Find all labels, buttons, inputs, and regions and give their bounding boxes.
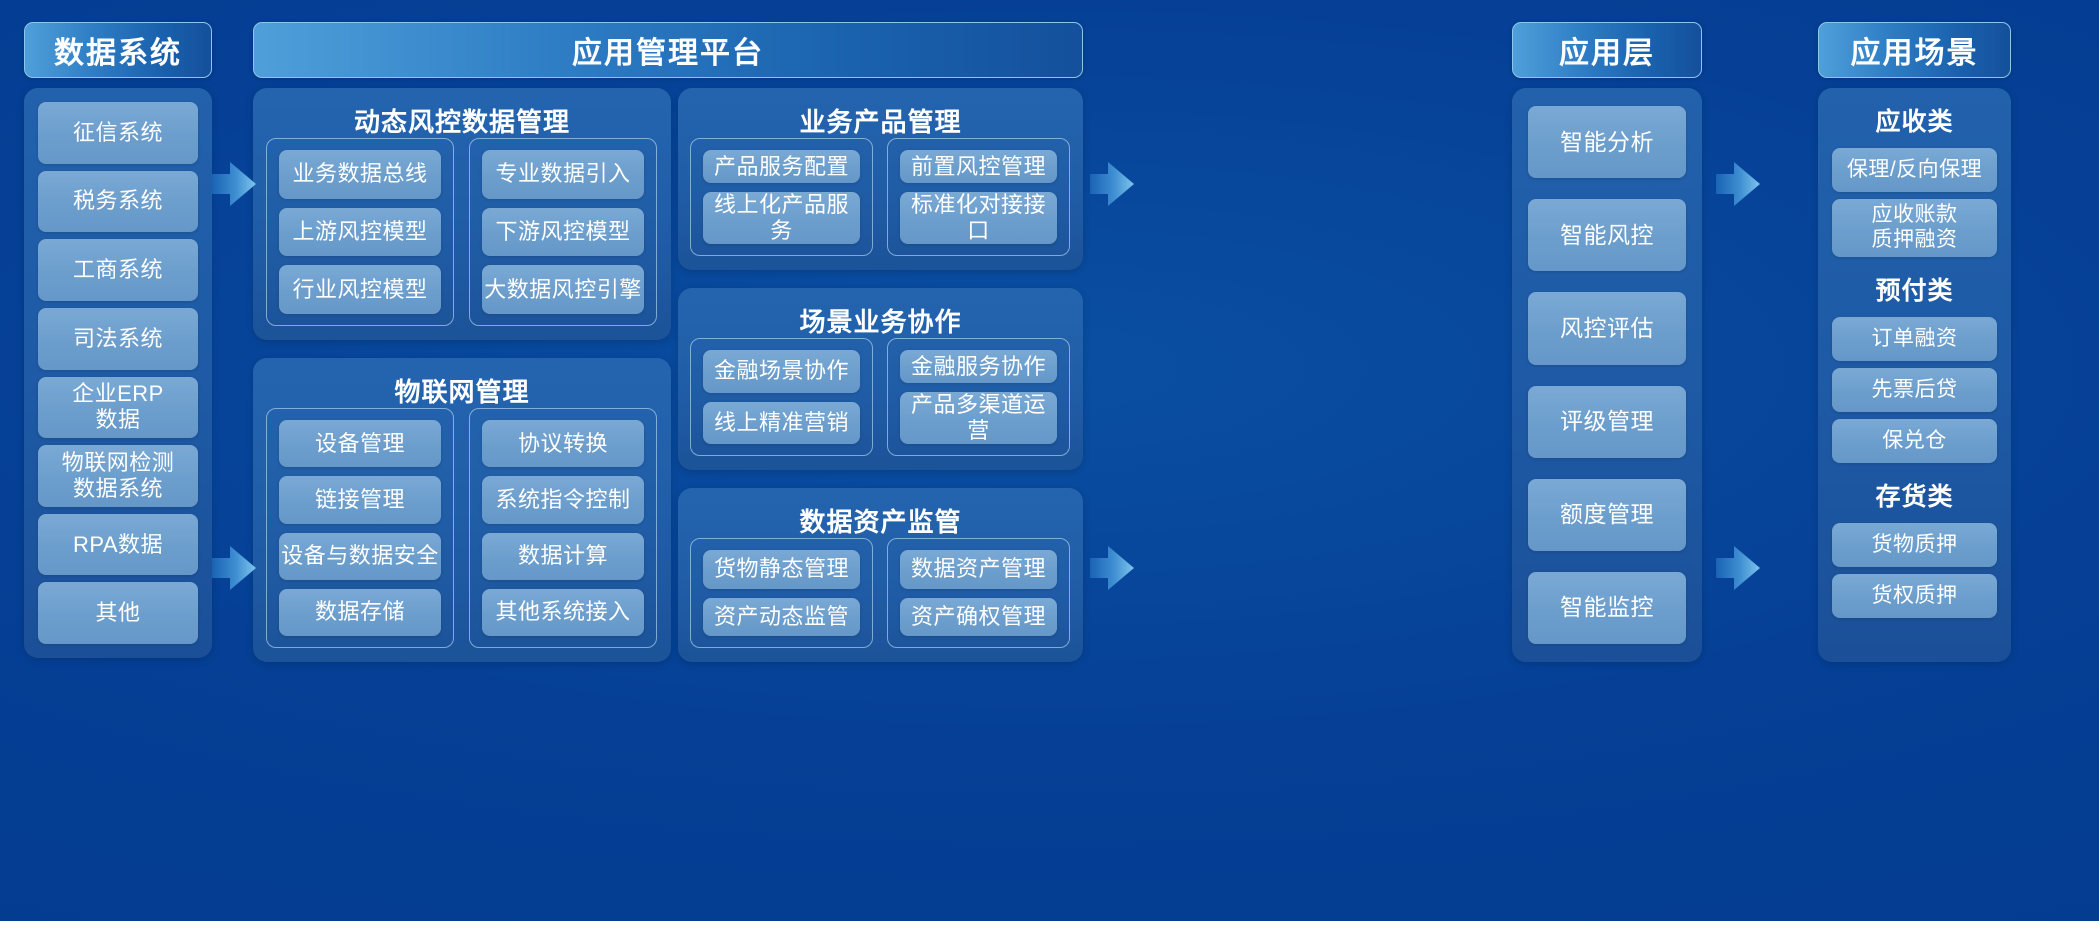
scenario-tile[interactable]: 保理/反向保理 bbox=[1832, 148, 1997, 192]
panel-data-systems: 征信系统税务系统工商系统司法系统企业ERP数据物联网检测数据系统RPA数据其他 bbox=[24, 88, 212, 658]
column-header-data-systems: 数据系统 bbox=[24, 22, 212, 78]
module-subgroup-right: 数据资产管理资产确权管理 bbox=[887, 538, 1070, 648]
application-layer-tile[interactable]: 智能监控 bbox=[1528, 572, 1686, 644]
application-layer-tile[interactable]: 评级管理 bbox=[1528, 386, 1686, 458]
arrow-platform-to-app-upper-icon bbox=[1090, 158, 1134, 210]
module-scenario-business-collaboration: 场景业务协作 金融场景协作线上精准营销 金融服务协作产品多渠道运营 bbox=[678, 288, 1083, 470]
scenario-group-title: 预付类 bbox=[1832, 269, 1997, 310]
module-subgroup-left: 设备管理链接管理设备与数据安全数据存储 bbox=[266, 408, 454, 648]
platform-feature-tile[interactable]: 资产动态监管 bbox=[703, 598, 860, 637]
platform-feature-tile[interactable]: 设备与数据安全 bbox=[279, 533, 441, 580]
platform-feature-tile[interactable]: 数据计算 bbox=[482, 533, 644, 580]
module-subgroup-left: 产品服务配置线上化产品服务 bbox=[690, 138, 873, 256]
platform-feature-tile[interactable]: 其他系统接入 bbox=[482, 589, 644, 636]
platform-feature-tile[interactable]: 链接管理 bbox=[279, 476, 441, 523]
arrow-data-to-risk-icon bbox=[212, 158, 256, 210]
module-title: 场景业务协作 bbox=[678, 302, 1083, 339]
data-system-tile[interactable]: RPA数据 bbox=[38, 514, 198, 576]
platform-feature-tile[interactable]: 数据存储 bbox=[279, 589, 441, 636]
diagram-root: 数据系统 征信系统税务系统工商系统司法系统企业ERP数据物联网检测数据系统RPA… bbox=[0, 0, 2099, 950]
platform-feature-tile[interactable]: 设备管理 bbox=[279, 420, 441, 467]
module-dynamic-risk-data-management: 动态风控数据管理 业务数据总线上游风控模型行业风控模型 专业数据引入下游风控模型… bbox=[253, 88, 671, 340]
scenario-group-title: 存货类 bbox=[1832, 475, 1997, 516]
scenario-tile[interactable]: 先票后贷 bbox=[1832, 368, 1997, 412]
platform-feature-tile[interactable]: 前置风控管理 bbox=[900, 150, 1057, 183]
module-subgroup-right: 协议转换系统指令控制数据计算其他系统接入 bbox=[469, 408, 657, 648]
column-header-application-scenarios: 应用场景 bbox=[1818, 22, 2011, 78]
scenario-tile[interactable]: 货权质押 bbox=[1832, 574, 1997, 618]
data-system-tile[interactable]: 企业ERP数据 bbox=[38, 377, 198, 439]
data-system-tile[interactable]: 其他 bbox=[38, 582, 198, 644]
scenario-group-title: 应收类 bbox=[1832, 100, 1997, 141]
column-application-layer: 应用层 智能分析智能风控风控评估评级管理额度管理智能监控 bbox=[1512, 0, 1702, 921]
data-system-tile[interactable]: 工商系统 bbox=[38, 239, 198, 301]
column-application-management-platform: 应用管理平台 动态风控数据管理 业务数据总线上游风控模型行业风控模型 专业数据引… bbox=[253, 0, 1083, 921]
column-application-scenarios: 应用场景 应收类保理/反向保理应收账款质押融资预付类订单融资先票后贷保兑仓存货类… bbox=[1818, 0, 2011, 921]
module-title: 物联网管理 bbox=[253, 372, 671, 409]
scenario-group: 存货类货物质押货权质押 bbox=[1832, 475, 1997, 618]
platform-feature-tile[interactable]: 线上精准营销 bbox=[703, 402, 860, 445]
module-subgroup-left: 货物静态管理资产动态监管 bbox=[690, 538, 873, 648]
scenario-group-list: 应收类保理/反向保理应收账款质押融资预付类订单融资先票后贷保兑仓存货类货物质押货… bbox=[1832, 100, 1997, 648]
module-iot-management: 物联网管理 设备管理链接管理设备与数据安全数据存储 协议转换系统指令控制数据计算… bbox=[253, 358, 671, 662]
platform-feature-tile[interactable]: 货物静态管理 bbox=[703, 550, 860, 589]
column-data-systems: 数据系统 征信系统税务系统工商系统司法系统企业ERP数据物联网检测数据系统RPA… bbox=[24, 0, 212, 921]
platform-feature-tile[interactable]: 金融服务协作 bbox=[900, 350, 1057, 383]
module-subgroup-right: 专业数据引入下游风控模型大数据风控引擎 bbox=[469, 138, 657, 326]
arrow-data-to-iot-icon bbox=[212, 542, 256, 594]
platform-feature-tile[interactable]: 专业数据引入 bbox=[482, 150, 644, 199]
scenario-tile[interactable]: 应收账款质押融资 bbox=[1832, 199, 1997, 257]
scenario-group: 应收类保理/反向保理应收账款质押融资 bbox=[1832, 100, 1997, 257]
data-system-tile[interactable]: 税务系统 bbox=[38, 171, 198, 233]
arrow-platform-to-app-lower-icon bbox=[1090, 542, 1134, 594]
module-data-asset-supervision: 数据资产监管 货物静态管理资产动态监管 数据资产管理资产确权管理 bbox=[678, 488, 1083, 662]
column-header-application-layer: 应用层 bbox=[1512, 22, 1702, 78]
application-layer-tile[interactable]: 风控评估 bbox=[1528, 292, 1686, 364]
column-header-platform: 应用管理平台 bbox=[253, 22, 1083, 78]
module-title: 数据资产监管 bbox=[678, 502, 1083, 539]
panel-application-scenarios: 应收类保理/反向保理应收账款质押融资预付类订单融资先票后贷保兑仓存货类货物质押货… bbox=[1818, 88, 2011, 662]
scenario-tile[interactable]: 订单融资 bbox=[1832, 317, 1997, 361]
platform-feature-tile[interactable]: 上游风控模型 bbox=[279, 208, 441, 257]
module-subgroup-right: 前置风控管理标准化对接接口 bbox=[887, 138, 1070, 256]
data-system-tile[interactable]: 物联网检测数据系统 bbox=[38, 445, 198, 507]
module-title: 业务产品管理 bbox=[678, 102, 1083, 139]
scenario-tile[interactable]: 保兑仓 bbox=[1832, 419, 1997, 463]
platform-feature-tile[interactable]: 资产确权管理 bbox=[900, 598, 1057, 637]
arrow-app-to-scenario-upper-icon bbox=[1716, 158, 1760, 210]
module-subgroup-right: 金融服务协作产品多渠道运营 bbox=[887, 338, 1070, 456]
application-layer-tile[interactable]: 智能风控 bbox=[1528, 199, 1686, 271]
data-systems-tile-list: 征信系统税务系统工商系统司法系统企业ERP数据物联网检测数据系统RPA数据其他 bbox=[38, 102, 198, 644]
data-system-tile[interactable]: 司法系统 bbox=[38, 308, 198, 370]
application-layer-tile[interactable]: 额度管理 bbox=[1528, 479, 1686, 551]
module-title: 动态风控数据管理 bbox=[253, 102, 671, 139]
platform-feature-tile[interactable]: 产品服务配置 bbox=[703, 150, 860, 183]
module-subgroup-left: 金融场景协作线上精准营销 bbox=[690, 338, 873, 456]
platform-feature-tile[interactable]: 标准化对接接口 bbox=[900, 192, 1057, 244]
platform-feature-tile[interactable]: 数据资产管理 bbox=[900, 550, 1057, 589]
platform-feature-tile[interactable]: 系统指令控制 bbox=[482, 476, 644, 523]
platform-feature-tile[interactable]: 协议转换 bbox=[482, 420, 644, 467]
platform-feature-tile[interactable]: 大数据风控引擎 bbox=[482, 265, 644, 314]
platform-feature-tile[interactable]: 线上化产品服务 bbox=[703, 192, 860, 244]
arrow-app-to-scenario-lower-icon bbox=[1716, 542, 1760, 594]
application-layer-tile-list: 智能分析智能风控风控评估评级管理额度管理智能监控 bbox=[1528, 106, 1686, 644]
platform-feature-tile[interactable]: 行业风控模型 bbox=[279, 265, 441, 314]
scenario-group: 预付类订单融资先票后贷保兑仓 bbox=[1832, 269, 1997, 463]
module-business-product-management: 业务产品管理 产品服务配置线上化产品服务 前置风控管理标准化对接接口 bbox=[678, 88, 1083, 270]
scenario-tile[interactable]: 货物质押 bbox=[1832, 523, 1997, 567]
platform-feature-tile[interactable]: 金融场景协作 bbox=[703, 350, 860, 393]
module-subgroup-left: 业务数据总线上游风控模型行业风控模型 bbox=[266, 138, 454, 326]
platform-feature-tile[interactable]: 业务数据总线 bbox=[279, 150, 441, 199]
panel-application-layer: 智能分析智能风控风控评估评级管理额度管理智能监控 bbox=[1512, 88, 1702, 662]
platform-feature-tile[interactable]: 下游风控模型 bbox=[482, 208, 644, 257]
platform-feature-tile[interactable]: 产品多渠道运营 bbox=[900, 392, 1057, 444]
data-system-tile[interactable]: 征信系统 bbox=[38, 102, 198, 164]
application-layer-tile[interactable]: 智能分析 bbox=[1528, 106, 1686, 178]
